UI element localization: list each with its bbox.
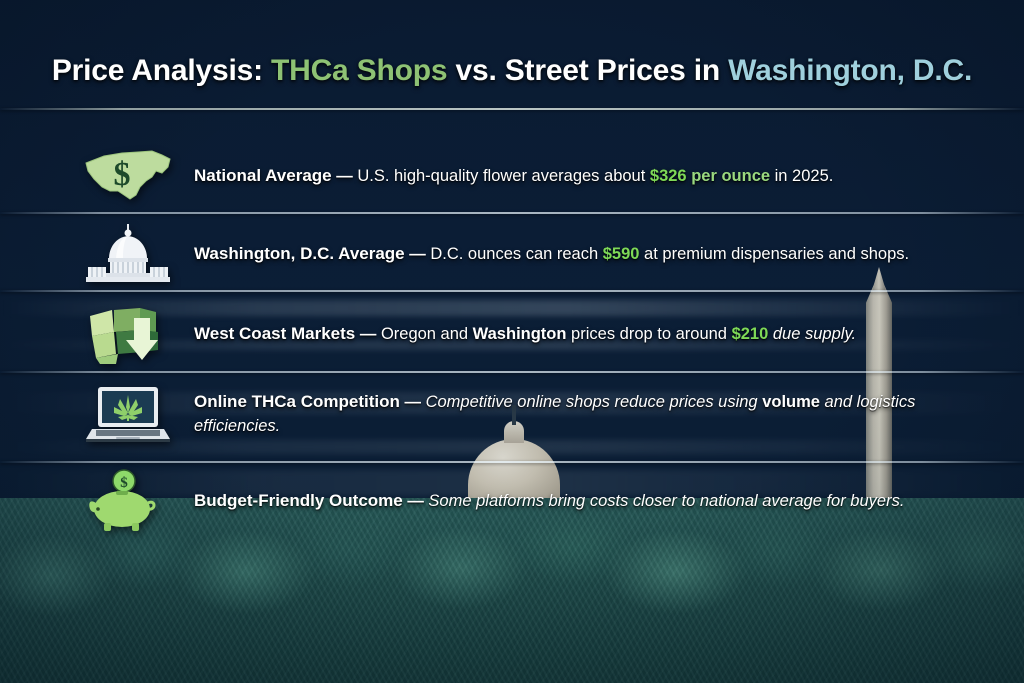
list-item-lead: Washington, D.C. Average: [194, 244, 405, 263]
segment-emphasis: Washington: [473, 325, 567, 343]
divider-row-2: [0, 290, 1024, 292]
piggy-bank-coin-icon: $: [78, 465, 178, 537]
page-title: Price Analysis: THCa Shops vs. Street Pr…: [0, 54, 1024, 88]
list-item-text: National Average — U.S. high-quality flo…: [194, 164, 958, 188]
divider-row-1: [0, 212, 1024, 214]
list-item-text: West Coast Markets — Oregon and Washingt…: [194, 322, 958, 346]
segment-text: Oregon and: [381, 325, 473, 343]
infographic-canvas: Price Analysis: THCa Shops vs. Street Pr…: [0, 0, 1024, 683]
list-item-dash: —: [404, 393, 421, 411]
segment-text: due supply.: [768, 325, 856, 343]
list-item-text: Washington, D.C. Average — D.C. ounces c…: [194, 242, 958, 266]
list-item-lead: Budget-Friendly Outcome: [194, 491, 403, 510]
segment-emphasis: volume: [762, 393, 820, 411]
title-part-thca-shops: THCa Shops: [271, 54, 447, 87]
svg-text:$: $: [114, 156, 131, 193]
capitol-dome-icon: [78, 218, 178, 290]
list-item[interactable]: $ National Average — U.S. high-quality f…: [78, 140, 958, 212]
list-item-text: Online THCa Competition — Competitive on…: [194, 390, 958, 438]
svg-text:$: $: [120, 475, 128, 491]
list-item-dash: —: [360, 325, 377, 343]
segment-text: Competitive online shops reduce prices u…: [426, 393, 763, 411]
list-item-text: Budget-Friendly Outcome — Some platforms…: [194, 489, 958, 513]
segment-text: prices drop to around: [566, 325, 731, 343]
price-value: $590: [603, 245, 640, 263]
list-item[interactable]: Washington, D.C. Average — D.C. ounces c…: [78, 218, 958, 290]
title-part-washington-dc: Washington, D.C.: [728, 54, 972, 87]
divider-row-3: [0, 371, 1024, 373]
list-item-lead: West Coast Markets: [194, 324, 355, 343]
segment-text: U.S. high-quality flower averages about: [357, 167, 650, 185]
west-coast-states-down-arrow-icon: [78, 298, 178, 370]
segment-text: D.C. ounces can reach: [430, 245, 602, 263]
list-item-dash: —: [336, 167, 353, 185]
price-unit: per ounce: [687, 167, 770, 185]
segment-text: at premium dispensaries and shops.: [639, 245, 909, 263]
list-item[interactable]: $ Budget-Friendly Outcome — Some platfor…: [78, 465, 958, 537]
us-map-dollar-icon: $: [78, 140, 178, 212]
price-value: $326: [650, 167, 687, 185]
title-part-vs-street-prices: vs. Street Prices in: [456, 54, 720, 87]
list-item-lead: Online THCa Competition: [194, 392, 400, 411]
segment-text: Some platforms bring costs closer to nat…: [428, 492, 904, 510]
list-item-dash: —: [407, 492, 424, 510]
segment-text: in 2025.: [770, 167, 833, 185]
price-value: $210: [732, 325, 769, 343]
list-item-lead: National Average: [194, 166, 332, 185]
title-part-price-analysis: Price Analysis:: [52, 54, 263, 87]
divider-under-title: [0, 108, 1024, 110]
divider-row-4: [0, 461, 1024, 463]
list-item[interactable]: Online THCa Competition — Competitive on…: [78, 378, 958, 450]
laptop-cannabis-leaf-icon: [78, 378, 178, 450]
list-item-dash: —: [409, 245, 426, 263]
list-item[interactable]: West Coast Markets — Oregon and Washingt…: [78, 298, 958, 370]
